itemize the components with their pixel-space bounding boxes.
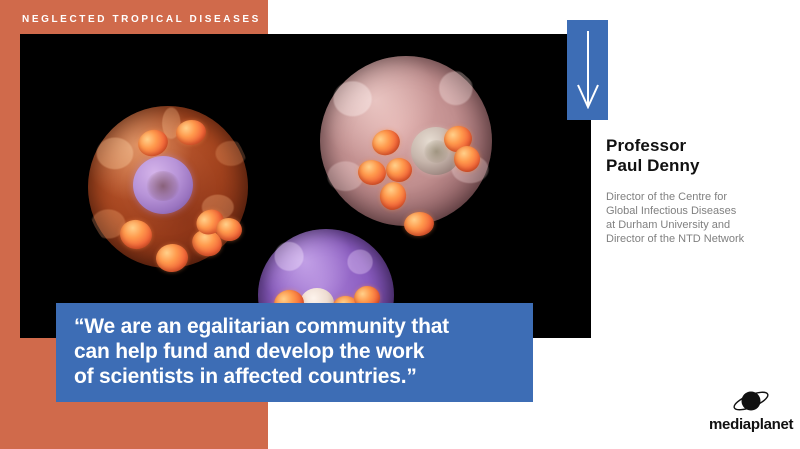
quote-line-2: can help fund and develop the work [74,339,524,364]
mediaplanet-wordmark: mediaplanet [709,416,793,433]
speaker-role-line-2: Global Infectious Diseases [606,204,796,218]
photo-panel [20,34,591,338]
speaker-role: Director of the Centre for Global Infect… [606,190,796,246]
quote-text: “We are an egalitarian community that ca… [74,314,524,389]
speaker-name-line-2: Paul Denny [606,156,796,176]
quote-line-3: of scientists in affected countries.” [74,364,524,389]
mediaplanet-logo: mediaplanet [709,388,793,438]
speaker-name: Professor Paul Denny [606,136,796,176]
section-kicker-label: NEGLECTED TROPICAL DISEASES [22,13,261,27]
speaker-name-line-1: Professor [606,136,796,156]
slide-canvas: NEGLECTED TROPICAL DISEASES [0,0,800,449]
scroll-down-arrow-box[interactable] [567,20,608,120]
speaker-role-line-1: Director of the Centre for [606,190,796,204]
planet-icon [731,388,771,416]
quote-line-1: “We are an egalitarian community that [74,314,524,339]
arrow-down-icon [577,31,599,109]
speaker-role-line-3: at Durham University and [606,218,796,232]
quote-box: “We are an egalitarian community that ca… [56,303,533,402]
purple-nucleus [133,156,193,214]
speaker-role-line-4: Director of the NTD Network [606,232,796,246]
